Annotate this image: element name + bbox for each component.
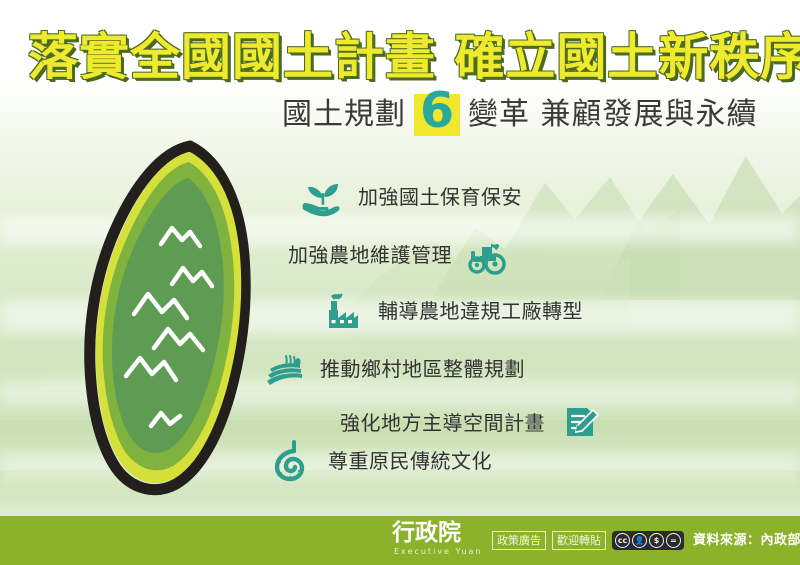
footer-bar: 行政院 Executive Yuan 政策廣告 歡迎轉貼 cc 👤 $ = 資料…: [0, 516, 800, 565]
factory-icon: [320, 290, 366, 332]
list-item-label: 推動鄉村地區整體規劃: [320, 356, 525, 382]
tag-share-welcome: 歡迎轉貼: [552, 531, 606, 550]
hand-sprout-icon: [300, 176, 346, 218]
data-source-text: 資料來源：內政部: [693, 533, 800, 549]
list-item[interactable]: 推動鄉村地區整體規劃: [262, 348, 525, 390]
taiwan-island-map-icon: [72, 136, 272, 496]
subtitle: 國土規劃 6 變革 兼顧發展與永續: [282, 93, 758, 137]
tractor-icon: [462, 234, 508, 276]
list-item-label: 強化地方主導空間計畫: [340, 410, 545, 436]
list-item-label: 加強國土保育保安: [358, 184, 522, 210]
measures-list: 加強國土保育保安: [258, 172, 658, 502]
tag-policy-ad: 政策廣告: [492, 531, 546, 550]
list-item[interactable]: 加強農地維護管理: [288, 234, 508, 276]
list-item-label: 尊重原民傳統文化: [328, 448, 492, 474]
snake-spiral-icon: [272, 440, 318, 482]
footer-content: 行政院 Executive Yuan 政策廣告 歡迎轉貼 cc 👤 $ = 資料…: [392, 516, 800, 565]
farmland-icon: [262, 348, 308, 390]
highlight-number: 6: [414, 85, 460, 137]
list-item[interactable]: 輔導農地違規工廠轉型: [320, 290, 583, 332]
cc-by-icon: 👤: [632, 533, 647, 548]
headline-text: 落實全國國土計畫 確立國土新秩序: [28, 28, 780, 86]
document-pencil-icon: [557, 402, 603, 444]
cc-nc-icon: $: [649, 533, 664, 548]
list-item-label: 加強農地維護管理: [288, 242, 452, 268]
headline: 落實全國國土計畫 確立國土新秩序: [28, 28, 780, 90]
list-item[interactable]: 強化地方主導空間計畫: [340, 402, 603, 444]
cc-nd-icon: =: [666, 533, 681, 548]
list-item-label: 輔導農地違規工廠轉型: [378, 298, 583, 324]
poster-canvas: 落實全國國土計畫 確立國土新秩序 國土規劃 6 變革 兼顧發展與永續: [0, 0, 800, 565]
list-item[interactable]: 加強國土保育保安: [300, 176, 522, 218]
top-white-band: [0, 0, 800, 26]
taiwan-map: [72, 136, 272, 496]
agency-name-cn: 行政院: [392, 521, 461, 545]
subtitle-after: 變革 兼顧發展與永續: [468, 95, 758, 135]
executive-yuan-logo: 行政院 Executive Yuan: [392, 521, 484, 561]
subtitle-before: 國土規劃: [282, 95, 406, 135]
creative-commons-badge: cc 👤 $ =: [612, 531, 684, 550]
agency-name-en: Executive Yuan: [394, 547, 483, 557]
list-item[interactable]: 尊重原民傳統文化: [272, 440, 492, 482]
highlight-number-block: 6: [414, 94, 460, 136]
cc-icon: cc: [615, 533, 630, 548]
